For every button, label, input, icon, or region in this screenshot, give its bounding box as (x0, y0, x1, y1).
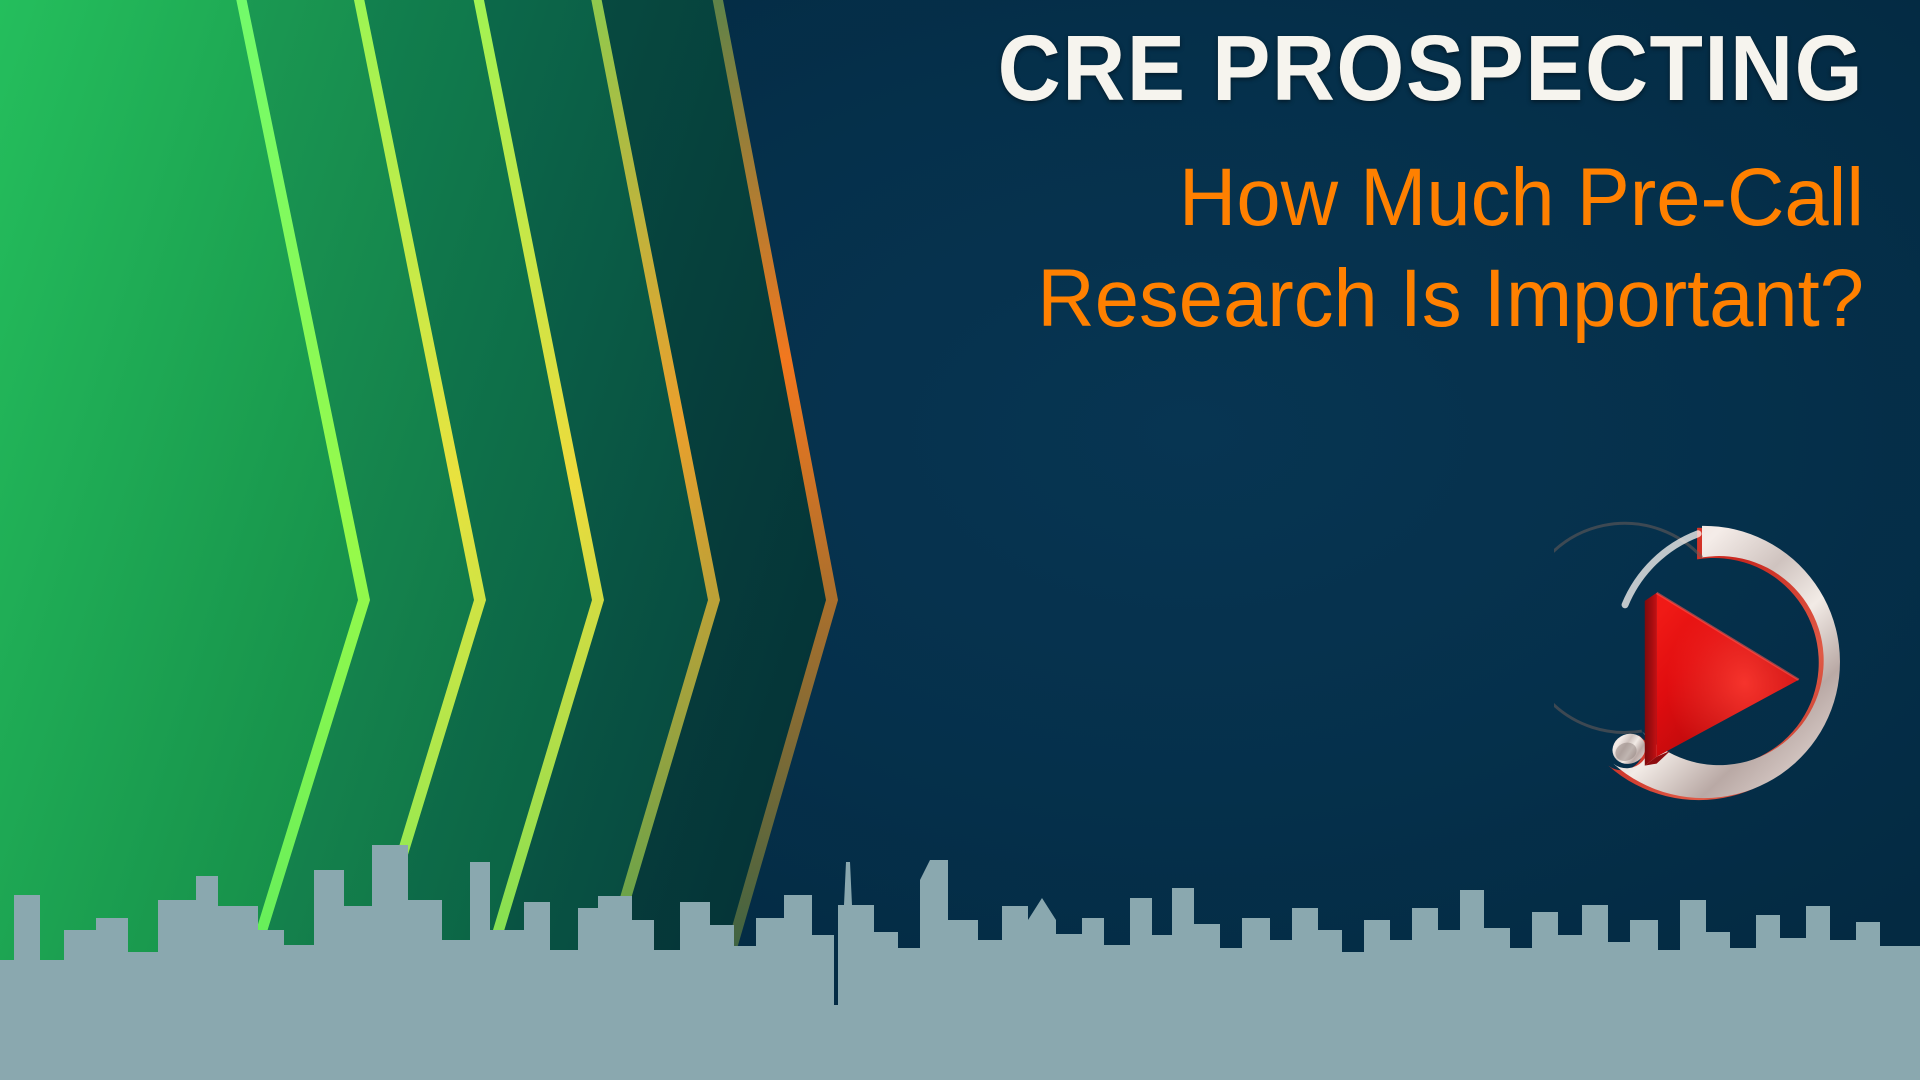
subtitle-line-1: How Much Pre-Call (836, 144, 1864, 252)
subtitle-line-2: Research Is Important? (836, 245, 1864, 353)
video-thumbnail-canvas: CRE PROSPECTING How Much Pre-Call Resear… (0, 0, 1920, 1080)
page-title: CRE PROSPECTING (868, 18, 1864, 118)
play-triangle-icon (1645, 593, 1799, 766)
play-button-logo[interactable] (1554, 512, 1850, 812)
title-text-block: CRE PROSPECTING How Much Pre-Call Resear… (804, 18, 1864, 353)
